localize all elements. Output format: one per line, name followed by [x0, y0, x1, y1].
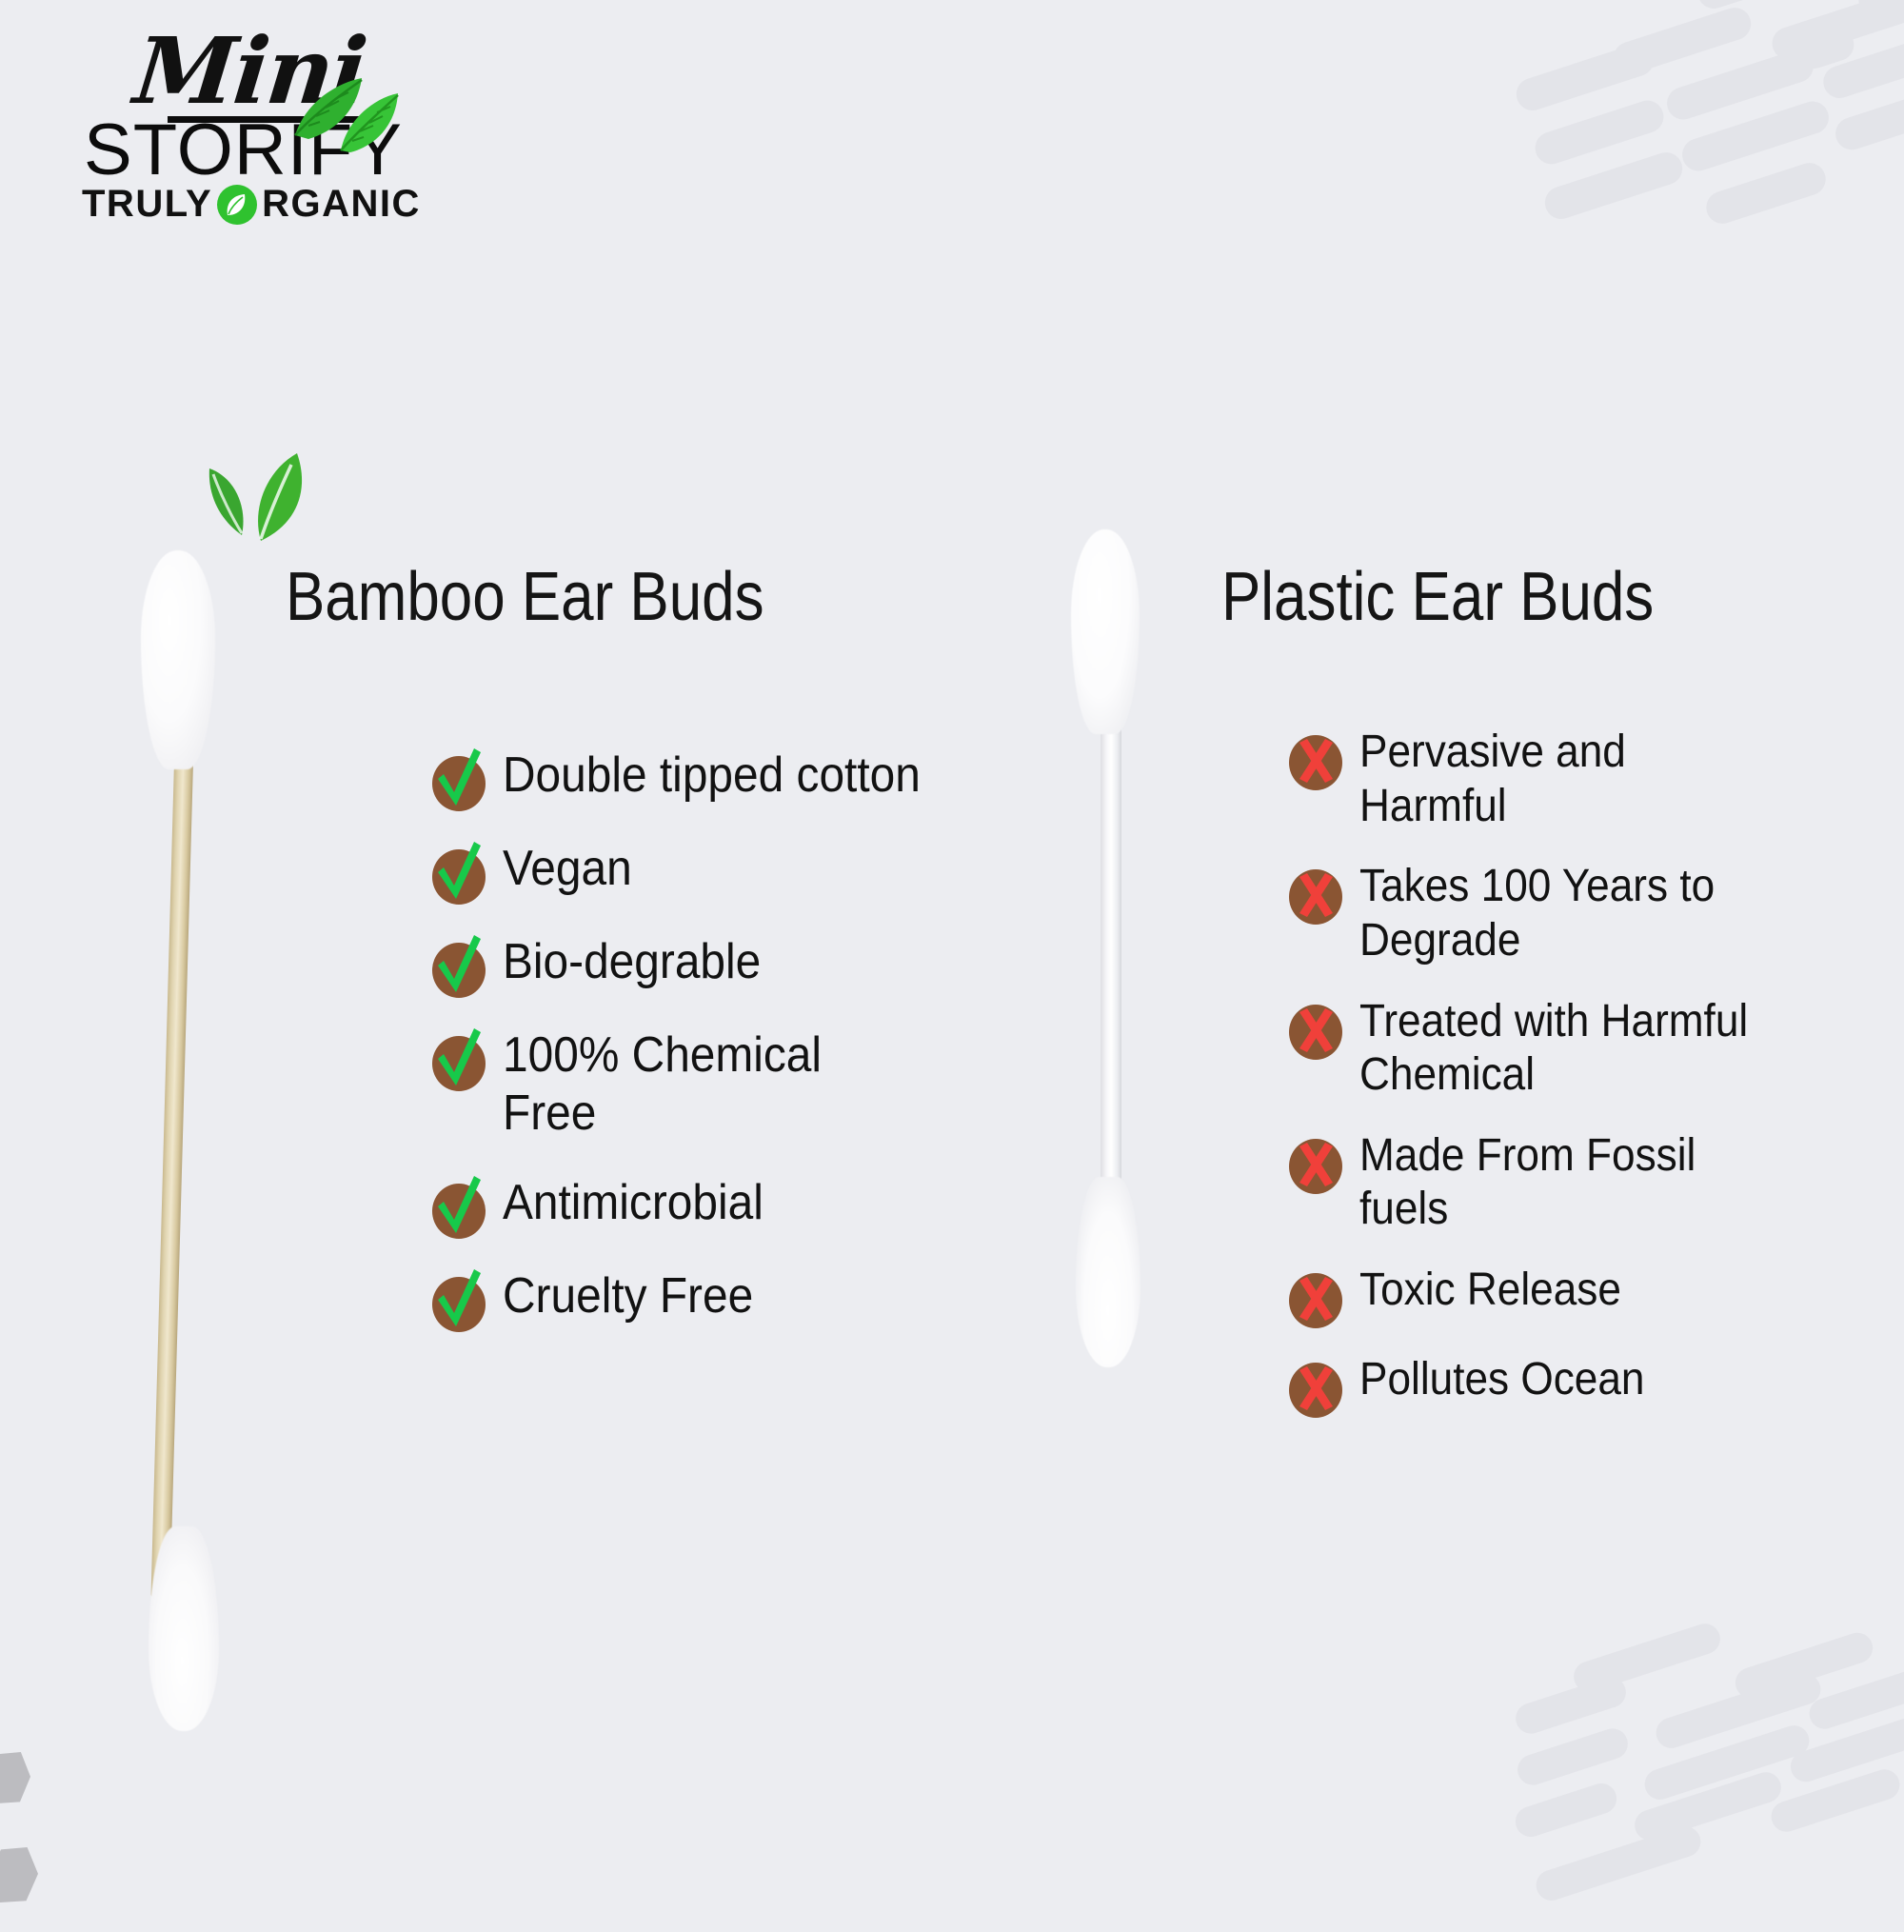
cotton-tip-top [141, 550, 215, 769]
tagline-truly: TRULY [82, 183, 212, 226]
cross-icon [1287, 1264, 1346, 1326]
feature-list-plastic: Pervasive and Harmful Takes 100 Years to… [1287, 724, 1877, 1441]
tagline-rganic: RGANIC [262, 183, 421, 226]
decorative-dash-pattern-top-right [1552, 0, 1904, 267]
list-item-label: Antimicrobial [503, 1172, 764, 1232]
list-item: Bio-degrable [430, 931, 1021, 996]
check-icon [430, 1267, 489, 1330]
column-heading-plastic: Plastic Ear Buds [1221, 558, 1654, 636]
list-item: Takes 100 Years to Degrade [1287, 858, 1877, 967]
list-item: Made From Fossil fuels [1287, 1127, 1877, 1237]
list-item-label: Toxic Release [1359, 1262, 1621, 1318]
list-item: Vegan [430, 838, 1021, 903]
check-icon [430, 933, 489, 996]
list-item-label: Pervasive and Harmful [1359, 724, 1727, 833]
list-item-label: Made From Fossil fuels [1359, 1127, 1771, 1237]
decorative-dash-pattern-bottom-right [1561, 1646, 1904, 1932]
list-item: Pollutes Ocean [1287, 1351, 1877, 1416]
sprout-leaves-icon [198, 440, 331, 545]
cross-icon [1287, 726, 1346, 788]
cross-icon [1287, 995, 1346, 1058]
list-item-label: Bio-degrable [503, 931, 761, 991]
decorative-hexagon [0, 1752, 30, 1803]
list-item: Toxic Release [1287, 1262, 1877, 1326]
cotton-tip-top [1071, 529, 1140, 734]
list-item-label: Cruelty Free [503, 1265, 753, 1325]
list-item-label: Treated with Harmful Chemical [1359, 993, 1835, 1103]
list-item: Double tipped cotton [430, 745, 1021, 809]
list-item-label: Takes 100 Years to Degrade [1359, 858, 1815, 967]
leaf-icon [288, 67, 402, 157]
list-item-label: 100% Chemical Free [503, 1025, 888, 1144]
plastic-stick [1101, 653, 1121, 1225]
list-item: Cruelty Free [430, 1265, 1021, 1330]
cross-icon [1287, 1129, 1346, 1192]
list-item: Treated with Harmful Chemical [1287, 993, 1877, 1103]
check-icon [430, 1174, 489, 1237]
cotton-tip-bottom [1076, 1177, 1140, 1367]
plastic-cotton-swab-image [1068, 529, 1156, 1367]
column-heading-bamboo: Bamboo Ear Buds [286, 558, 764, 636]
check-icon [430, 840, 489, 903]
cross-icon [1287, 860, 1346, 923]
check-icon [430, 747, 489, 809]
list-item-label: Double tipped cotton [503, 745, 921, 805]
brand-logo: Mini STORIFY TRULY RGANIC [80, 21, 480, 211]
leaf-circle-icon [216, 184, 258, 226]
decorative-hexagon [0, 1847, 38, 1902]
check-icon [430, 1026, 489, 1089]
bamboo-cotton-swab-image [135, 550, 230, 1731]
list-item: Antimicrobial [430, 1172, 1021, 1237]
cross-icon [1287, 1353, 1346, 1416]
bamboo-stick [150, 693, 195, 1598]
feature-list-bamboo: Double tipped cotton Vegan Bio-degrable … [430, 745, 1021, 1359]
logo-tagline: TRULY RGANIC [82, 183, 421, 226]
list-item: 100% Chemical Free [430, 1025, 1021, 1144]
list-item-label: Vegan [503, 838, 632, 898]
list-item-label: Pollutes Ocean [1359, 1351, 1644, 1407]
list-item: Pervasive and Harmful [1287, 724, 1877, 833]
cotton-tip-bottom [149, 1526, 219, 1731]
